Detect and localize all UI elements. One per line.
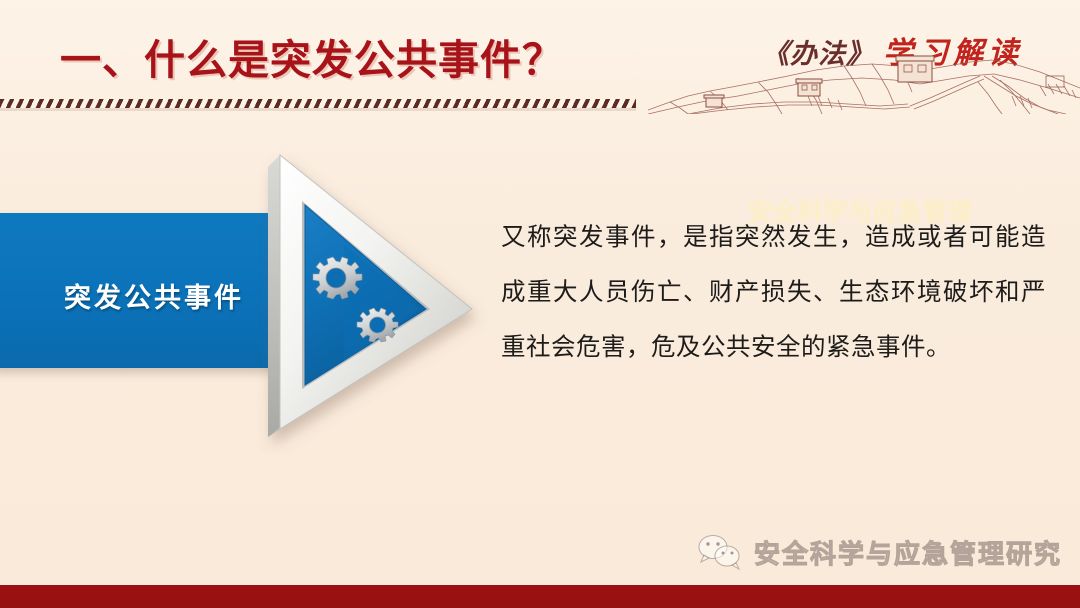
divider-shadow — [0, 108, 636, 111]
footer-watermark: 安全科学与应急管理研究 — [697, 533, 1062, 571]
wechat-icon — [697, 533, 743, 571]
body-paragraph: 又称突发事件，是指突然发生，造成或者可能造成重大人员伤亡、财产损失、生态环境破坏… — [501, 210, 1046, 375]
footer-bar — [0, 585, 1080, 608]
play-triangle-with-gears[interactable] — [258, 133, 494, 453]
footer-watermark-text: 安全科学与应急管理研究 — [754, 534, 1062, 571]
great-wall-line-drawing — [648, 52, 1080, 114]
page-title: 一、什么是突发公共事件？ — [60, 26, 564, 86]
slide-root: 一、什么是突发公共事件？ 《办法》学习解读 — [0, 0, 1080, 608]
hatched-stripe-divider — [0, 99, 636, 108]
label-box-text: 突发公共事件 — [64, 276, 244, 315]
